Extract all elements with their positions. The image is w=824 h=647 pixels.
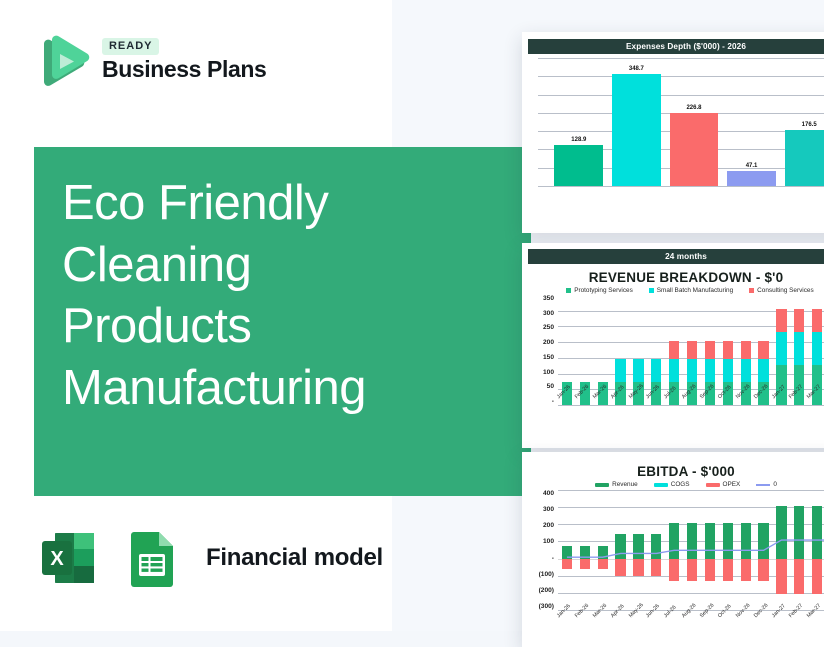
bar xyxy=(785,130,824,186)
y-tick-label: 100 xyxy=(528,538,554,545)
bar-column xyxy=(773,490,791,610)
legend-swatch xyxy=(649,288,654,293)
bar-segment xyxy=(812,559,822,594)
legend-swatch xyxy=(706,483,720,487)
bar-stack-negative xyxy=(741,559,751,581)
bar-value-label: 128.9 xyxy=(571,137,586,143)
bar-segment xyxy=(651,359,661,381)
bar-segment xyxy=(705,359,715,381)
bar-segment xyxy=(669,523,679,558)
bar-segment xyxy=(794,332,804,365)
bar-segment xyxy=(741,359,751,381)
bar-stack-positive xyxy=(741,523,751,558)
bar-column: 128.9 xyxy=(554,58,603,186)
legend-item: Small Batch Manufacturing xyxy=(649,287,733,294)
bar-segment xyxy=(776,559,786,594)
legend-swatch xyxy=(654,483,668,487)
bar-column: 47.1 xyxy=(727,58,776,186)
bar-stack-positive xyxy=(794,506,804,558)
bar-segment xyxy=(651,559,661,576)
bar-stack-positive xyxy=(687,523,697,558)
bar xyxy=(612,74,661,186)
bar-stack-negative xyxy=(615,559,625,576)
legend-item: 0 xyxy=(756,481,777,488)
bar-stack-positive xyxy=(651,534,661,559)
bar-segment xyxy=(705,559,715,581)
bar-stack-positive xyxy=(776,506,786,558)
chart2-y-axis: 35030025020015010050- xyxy=(528,295,558,405)
bar-stack-negative xyxy=(669,559,679,581)
bar-stack-positive xyxy=(705,523,715,558)
bar-column xyxy=(719,490,737,610)
bar xyxy=(727,171,776,186)
bar-segment xyxy=(705,341,715,360)
legend-item: Consulting Services xyxy=(749,287,813,294)
chart1-plot: 128.9348.7226.847.1176.5 xyxy=(528,58,824,186)
bar-segment xyxy=(669,559,679,581)
legend-label: Small Batch Manufacturing xyxy=(657,287,733,294)
bar-segment xyxy=(741,559,751,581)
gridline xyxy=(558,405,824,406)
bar xyxy=(670,113,719,186)
bar-stack-negative xyxy=(776,559,786,594)
y-tick-label: 350 xyxy=(528,295,554,302)
bar-segment xyxy=(615,359,625,381)
bar-column xyxy=(594,490,612,610)
bar-stack-positive xyxy=(758,523,768,558)
page-canvas: READY Business Plans Eco Friendly Cleani… xyxy=(0,0,824,631)
financial-model-label: Financial model xyxy=(206,544,383,572)
chart2-title: REVENUE BREAKDOWN - $'0 xyxy=(528,270,824,285)
legend-item: OPEX xyxy=(706,481,741,488)
chart3-bars xyxy=(558,490,824,610)
bar-segment xyxy=(598,559,608,570)
bar-stack-negative xyxy=(687,559,697,581)
bar-stack-positive xyxy=(812,506,822,558)
bar-segment xyxy=(687,559,697,581)
bar-stack-positive xyxy=(615,534,625,559)
bar-segment xyxy=(812,309,822,332)
bar-segment xyxy=(794,309,804,332)
bar-column xyxy=(576,490,594,610)
microsoft-excel-icon: X xyxy=(36,524,104,592)
legend-swatch xyxy=(749,288,754,293)
bar-stack-negative xyxy=(580,559,590,570)
bar-segment xyxy=(758,559,768,581)
ready-badge: READY xyxy=(102,38,159,55)
bar-segment xyxy=(741,341,751,360)
y-tick-label: 50 xyxy=(528,383,554,390)
legend-swatch xyxy=(566,288,571,293)
bar-segment xyxy=(723,359,733,381)
y-tick-label: 300 xyxy=(528,506,554,513)
bar-column xyxy=(808,490,824,610)
y-tick-label: 200 xyxy=(528,339,554,346)
page-title: Eco Friendly Cleaning Products Manufactu… xyxy=(34,147,531,420)
bar-value-label: 176.5 xyxy=(802,122,817,128)
bar-value-label: 226.8 xyxy=(686,105,701,111)
y-tick-label: - xyxy=(528,398,554,405)
legend-label: Revenue xyxy=(612,481,638,488)
bar-stack-negative xyxy=(758,559,768,581)
bar-segment xyxy=(723,523,733,558)
brand-logo[interactable]: READY Business Plans xyxy=(30,28,266,90)
bar-segment xyxy=(580,559,590,570)
bar-value-label: 348.7 xyxy=(629,66,644,72)
bar-stack-positive xyxy=(669,523,679,558)
bar-column: 176.5 xyxy=(785,58,824,186)
bar-column: 348.7 xyxy=(612,58,661,186)
google-sheets-icon xyxy=(122,524,184,592)
bar-segment xyxy=(687,341,697,360)
bar-stack-negative xyxy=(598,559,608,570)
bar-segment xyxy=(633,359,643,381)
y-tick-label: 250 xyxy=(528,324,554,331)
bar-stack-negative xyxy=(562,559,572,570)
bar-column xyxy=(737,490,755,610)
bar-segment xyxy=(669,359,679,381)
bar-stack-negative xyxy=(651,559,661,576)
y-tick-label: 300 xyxy=(528,310,554,317)
y-tick-label: - xyxy=(528,555,554,562)
bar-segment xyxy=(758,341,768,360)
legend-label: Consulting Services xyxy=(757,287,813,294)
bar-segment xyxy=(562,546,572,559)
bar-stack-negative xyxy=(723,559,733,581)
bar-segment xyxy=(794,559,804,594)
bar-column xyxy=(790,490,808,610)
bar-stack-positive xyxy=(723,523,733,558)
bar-column xyxy=(558,490,576,610)
bar-stack-positive xyxy=(598,546,608,559)
chart2-x-axis: Jan-26Feb-26Mar-26Apr-26May-26Jun-26Jul-… xyxy=(558,395,824,401)
legend-swatch xyxy=(595,483,609,487)
bar-column xyxy=(665,490,683,610)
bar-segment xyxy=(758,359,768,381)
bar-column xyxy=(630,490,648,610)
bar-segment xyxy=(776,332,786,365)
chart3-y-axis: 400300200100-(100)(200)(300) xyxy=(528,490,558,610)
svg-text:X: X xyxy=(50,548,64,570)
bar-column xyxy=(755,490,773,610)
y-tick-label: (100) xyxy=(528,571,554,578)
legend-label: COGS xyxy=(671,481,690,488)
bar-segment xyxy=(758,523,768,558)
chart2-legend: Prototyping ServicesSmall Batch Manufact… xyxy=(528,287,824,294)
chart2-header: 24 months xyxy=(528,249,824,264)
chart1-bars: 128.9348.7226.847.1176.5 xyxy=(550,58,824,186)
bar-segment xyxy=(776,506,786,558)
bar-segment xyxy=(598,546,608,559)
bar-segment xyxy=(562,559,572,570)
legend-label: OPEX xyxy=(723,481,741,488)
bar-segment xyxy=(723,559,733,581)
bar-column: 226.8 xyxy=(670,58,719,186)
bar-stack-negative xyxy=(633,559,643,576)
brand-name: Business Plans xyxy=(102,57,266,81)
legend-label: 0 xyxy=(773,481,777,488)
bar-segment xyxy=(615,559,625,576)
y-tick-label: 150 xyxy=(528,354,554,361)
bar-segment xyxy=(812,506,822,558)
bar-segment xyxy=(687,359,697,381)
y-tick-label: 400 xyxy=(528,490,554,497)
bar-segment xyxy=(741,523,751,558)
bar-column xyxy=(612,490,630,610)
bar-stack-positive xyxy=(562,546,572,559)
y-tick-label: 200 xyxy=(528,522,554,529)
bar-column xyxy=(647,490,665,610)
chart-card-expenses: Expenses Depth ($'000) - 2026 128.9348.7… xyxy=(522,32,824,233)
chart-card-revenue-breakdown: 24 months REVENUE BREAKDOWN - $'0 Protot… xyxy=(522,243,824,448)
y-tick-label: (200) xyxy=(528,587,554,594)
bar-segment xyxy=(669,341,679,360)
hero-banner: Eco Friendly Cleaning Products Manufactu… xyxy=(34,147,531,496)
chart3-x-axis: Jan-26Feb-26Mar-26Apr-26May-26Jun-26Jul-… xyxy=(558,614,824,620)
bar-stack-positive xyxy=(633,534,643,559)
bar-column xyxy=(683,490,701,610)
y-tick-label: 100 xyxy=(528,369,554,376)
y-tick-label: (300) xyxy=(528,603,554,610)
bar-segment xyxy=(705,523,715,558)
chart3-plot: 400300200100-(100)(200)(300) xyxy=(528,490,824,610)
bar-segment xyxy=(687,523,697,558)
bar xyxy=(554,145,603,186)
legend-swatch xyxy=(756,484,770,486)
gridline xyxy=(538,186,824,187)
bar-segment xyxy=(633,559,643,576)
bar-segment xyxy=(580,546,590,559)
bar-segment xyxy=(615,534,625,559)
bar-stack-positive xyxy=(580,546,590,559)
legend-item: Prototyping Services xyxy=(566,287,633,294)
bar-segment xyxy=(633,534,643,559)
bar-column xyxy=(701,490,719,610)
play-triangle-logo-icon xyxy=(30,28,92,90)
footer-row: X Financial model xyxy=(36,524,383,592)
legend-item: COGS xyxy=(654,481,690,488)
chart3-legend: RevenueCOGSOPEX0 xyxy=(528,481,824,488)
bar-segment xyxy=(651,534,661,559)
bar-stack-negative xyxy=(705,559,715,581)
bar-segment xyxy=(794,506,804,558)
bar-segment xyxy=(723,341,733,360)
bar-value-label: 47.1 xyxy=(746,163,758,169)
chart3-title: EBITDA - $'000 xyxy=(528,464,824,479)
chart1-header: Expenses Depth ($'000) - 2026 xyxy=(528,39,824,54)
legend-label: Prototyping Services xyxy=(574,287,633,294)
bar-segment xyxy=(776,309,786,332)
chart-card-ebitda: EBITDA - $'000 RevenueCOGSOPEX0 40030020… xyxy=(522,452,824,647)
brand-text-block: READY Business Plans xyxy=(102,36,266,81)
bar-stack-negative xyxy=(812,559,822,594)
legend-item: Revenue xyxy=(595,481,638,488)
bar-stack-negative xyxy=(794,559,804,594)
bar-segment xyxy=(812,332,822,365)
